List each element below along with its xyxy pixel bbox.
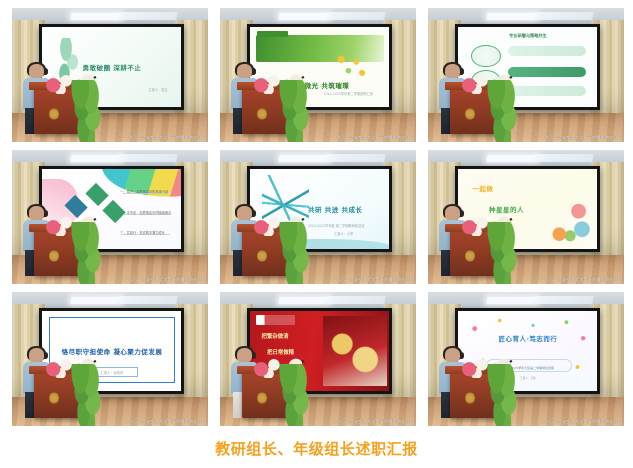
ceiling-light-icon <box>70 13 122 20</box>
podium-emblem-icon <box>257 250 267 263</box>
conference-room-scene-9: 匠心育人·笃志而行 2024-2025学年大班第二学期岗位述职 汇报人：吴静 <box>428 292 624 426</box>
podium-emblem-icon <box>465 250 475 263</box>
slide-3-bar-1 <box>508 46 586 56</box>
photo-cell-9[interactable]: 匠心育人·笃志而行 2024-2025学年大班第二学期岗位述职 汇报人：吴静 <box>428 292 624 426</box>
head <box>237 206 252 221</box>
podium-emblem-icon <box>465 108 475 121</box>
photo-cell-8[interactable]: 把繁杂做清 把日常做精 把岗位做实 公众号：西安交通大学第一附属医院幼儿园 <box>220 292 416 426</box>
podium-emblem-icon <box>257 108 267 121</box>
conference-room-scene-2: 采撷微光 共筑璀璨 2024-2025学年第二学期述职汇报 公众号：西安交通大学… <box>220 8 416 142</box>
ring-icon-1 <box>471 45 501 68</box>
institution-logo-icon <box>256 315 295 325</box>
ceiling-light-icon <box>486 155 538 162</box>
photo-cell-7[interactable]: 恪尽职守担使命 凝心聚力促发展 汇报人：武晓萍 公众号：西安交通大学第一附属医院… <box>12 292 208 426</box>
ceiling-light-icon <box>278 297 330 304</box>
kids-illustration <box>550 203 592 244</box>
podium-emblem-icon <box>257 392 267 405</box>
hanging-vine <box>279 80 310 142</box>
slide-3-bar-2 <box>508 67 586 77</box>
ceiling-light-icon <box>486 13 538 20</box>
slide-2-subtitle: 2024-2025学年第二学期述职汇报 <box>324 91 373 96</box>
page-caption: 教研组长、年级组长述职汇报 <box>0 438 633 459</box>
dot-decoration-icon <box>334 54 370 81</box>
slide-1-title: 勇敢破圈 深耕不止 <box>83 62 142 72</box>
conference-room-scene-3: 专业研磨与策略共生 <box>428 8 624 142</box>
photo-cell-4[interactable]: 一、笃行：实践落实中的具体行动 二、寻不足：实践落实中的困惑难点 三、共前行：在… <box>12 150 208 284</box>
head <box>29 348 44 363</box>
slide-1-subtitle: 汇报人：姓名 <box>148 87 167 92</box>
watermark-8: 公众号：西安交通大学第一附属医院幼儿园 <box>333 419 414 425</box>
ceiling-light-icon <box>70 297 122 304</box>
slide-4-item-1: 一、笃行：实践落实中的具体行动 <box>120 189 168 194</box>
head <box>445 348 460 363</box>
photo-cell-2[interactable]: 采撷微光 共筑璀璨 2024-2025学年第二学期述职汇报 公众号：西安交通大学… <box>220 8 416 142</box>
watermark-2: 公众号：西安交通大学第一附属医院幼儿园 <box>333 135 414 141</box>
slide-7-title: 恪尽职守担使命 凝心聚力促发展 <box>62 346 163 356</box>
hanging-vine <box>71 222 102 284</box>
hanging-vine <box>279 222 310 284</box>
watermark-5: 公众号：西安交通大学第一附属医院幼儿园 <box>333 277 414 283</box>
hanging-vine <box>487 222 518 284</box>
photo-cell-1[interactable]: 勇敢破圈 深耕不止 汇报人：姓名 公众号：西安交通大学第一附属医院幼儿园 <box>12 8 208 142</box>
contents-diamond-1 <box>86 182 109 205</box>
slide-5-title: 共研 共进 共成长 <box>308 204 363 214</box>
hanging-vine <box>71 80 102 142</box>
head <box>445 206 460 221</box>
watermark-1: 公众号：西安交通大学第一附属医院幼儿园 <box>125 135 206 141</box>
watermark-3: 公众号：西安交通大学第一附属医院幼儿园 <box>541 135 622 141</box>
conference-room-scene-4: 一、笃行：实践落实中的具体行动 二、寻不足：实践落实中的困惑难点 三、共前行：在… <box>12 150 208 284</box>
slide-4-item-3: 三、共前行：在实践中凝力成长 <box>120 230 165 235</box>
podium-emblem-icon <box>49 250 59 263</box>
watermark-9: 公众号：西安交通大学第一附属医院幼儿园 <box>541 419 622 425</box>
podium-emblem-icon <box>49 108 59 121</box>
watermark-6: 公众号：西安交通大学第一附属医院幼儿园 <box>541 277 622 283</box>
slide-6-title-line2: 种星星的人 <box>489 204 524 214</box>
ceiling-light-icon <box>486 297 538 304</box>
slide-6-title-line1: 一起做 <box>472 183 493 193</box>
podium-emblem-icon <box>465 392 475 405</box>
slide-3-bar-3 <box>508 86 586 96</box>
ceiling-light-icon <box>70 155 122 162</box>
head <box>237 64 252 79</box>
slide-8-photo <box>323 316 387 386</box>
head <box>29 64 44 79</box>
slide-9-title: 匠心育人·笃志而行 <box>498 333 557 343</box>
photo-cell-3[interactable]: 专业研磨与策略共生 <box>428 8 624 142</box>
head <box>29 206 44 221</box>
hanging-vine <box>71 364 102 426</box>
head <box>237 348 252 363</box>
conference-room-scene-5: 共研 共进 共成长 2024-2025学年度 第二学期教研组总结 汇报人：小李 <box>220 150 416 284</box>
watermark-7: 公众号：西安交通大学第一附属医院幼儿园 <box>125 419 206 425</box>
hanging-vine <box>279 364 310 426</box>
slide-4-item-2: 二、寻不足：实践落实中的困惑难点 <box>120 210 171 215</box>
ceiling-light-icon <box>278 13 330 20</box>
conference-room-scene-8: 把繁杂做清 把日常做精 把岗位做实 公众号：西安交通大学第一附属医院幼儿园 <box>220 292 416 426</box>
slide-5-subtitle: 2024-2025学年度 第二学期教研组总结 <box>308 223 365 228</box>
conference-room-scene-7: 恪尽职守担使命 凝心聚力促发展 汇报人：武晓萍 公众号：西安交通大学第一附属医院… <box>12 292 208 426</box>
slide-8-title-line2: 把日常做精 <box>267 348 294 356</box>
photo-cell-5[interactable]: 共研 共进 共成长 2024-2025学年度 第二学期教研组总结 汇报人：小李 <box>220 150 416 284</box>
watermark-4: 公众号：西安交通大学第一附属医院幼儿园 <box>125 277 206 283</box>
photo-grid: 勇敢破圈 深耕不止 汇报人：姓名 公众号：西安交通大学第一附属医院幼儿园 <box>12 8 624 426</box>
hanging-vine <box>487 364 518 426</box>
ceiling-light-icon <box>278 155 330 162</box>
head <box>445 64 460 79</box>
slide-5-subtitle2: 汇报人：小李 <box>334 231 353 236</box>
slide-3-title: 专业研磨与策略共生 <box>458 33 597 39</box>
photo-cell-6[interactable]: 一起做 种星星的人 公众号：西安交通大学第一附属医院幼儿园 <box>428 150 624 284</box>
slide-tag <box>257 31 288 37</box>
hanging-vine <box>487 80 518 142</box>
slide-8-title-line1: 把繁杂做清 <box>262 332 289 340</box>
photo-report-page: 勇敢破圈 深耕不止 汇报人：姓名 公众号：西安交通大学第一附属医院幼儿园 <box>0 0 633 468</box>
conference-room-scene-1: 勇敢破圈 深耕不止 汇报人：姓名 公众号：西安交通大学第一附属医院幼儿园 <box>12 8 208 142</box>
conference-room-scene-6: 一起做 种星星的人 公众号：西安交通大学第一附属医院幼儿园 <box>428 150 624 284</box>
podium-emblem-icon <box>49 392 59 405</box>
